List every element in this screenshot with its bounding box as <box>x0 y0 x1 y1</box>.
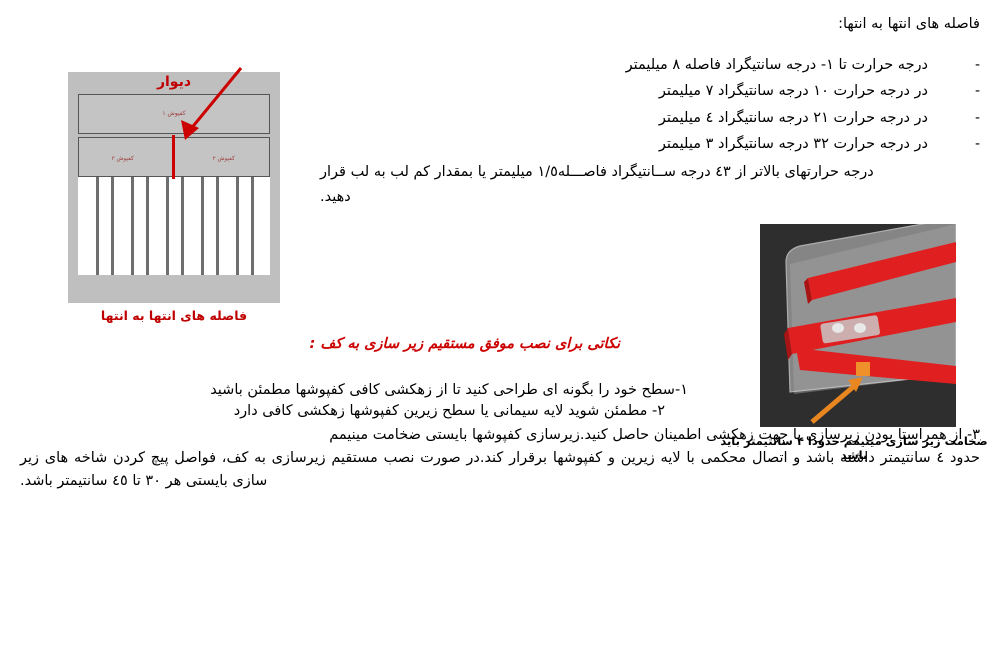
high-temperature-note: درجه حرارتهای بالاتر از ٤۳ درجه ســانتیگ… <box>320 160 980 211</box>
list-item: - در درجه حرارت ۳۲ درجه سانتیگراد ۳ میلی… <box>320 133 980 155</box>
plank-divider <box>236 177 239 275</box>
subfloor-thickness-photo <box>760 224 956 427</box>
list-item-label: در درجه حرارت ۲۱ درجه سانتیگراد ٤ میلیمت… <box>659 107 928 129</box>
plank-divider <box>251 177 254 275</box>
subfloor-tips-heading: نکاتی برای نصب موفق مستقیم زیر سازی به ک… <box>310 336 620 352</box>
diagram-caption: فاصله های انتها به انتها <box>68 308 280 323</box>
plank-divider <box>181 177 184 275</box>
temperature-gap-list: - درجه حرارت تا ۱- درجه سانتیگراد فاصله … <box>320 54 980 156</box>
bullet-marker-icon: - <box>928 110 980 126</box>
end-to-end-gaps-section: فاصله های انتها به انتها: - درجه حرارت ت… <box>320 14 980 210</box>
list-item-label: درجه حرارت تا ۱- درجه سانتیگراد فاصله ۸ … <box>626 54 928 76</box>
panel-label-left: کفپوش ۳ <box>112 155 134 162</box>
floor-layout-diagram: دیوار کفپوش ۱ کفپوش ۳ کفپوش ۲ <box>68 72 280 303</box>
plank-field <box>78 177 270 275</box>
high-temperature-note-text: درجه حرارتهای بالاتر از ٤۳ درجه ســانتیگ… <box>320 164 874 180</box>
page-title: فاصله های انتها به انتها: <box>320 14 980 36</box>
document-page: فاصله های انتها به انتها: - درجه حرارت ت… <box>0 0 1000 666</box>
bracket-hole <box>854 323 866 333</box>
subfloor-3d-illustration <box>760 224 956 427</box>
bracket-hole <box>832 323 844 333</box>
plank-divider <box>201 177 204 275</box>
high-temperature-note-tail: دهید. <box>320 185 980 210</box>
list-item: - در درجه حرارت ۲۱ درجه سانتیگراد ٤ میلی… <box>320 107 980 129</box>
list-item-label: در درجه حرارت ۳۲ درجه سانتیگراد ۳ میلیمت… <box>659 133 928 155</box>
red-pointer-arrow-icon <box>163 64 253 164</box>
plank-divider <box>111 177 114 275</box>
bullet-marker-icon: - <box>928 136 980 152</box>
plank-divider <box>216 177 219 275</box>
plank-divider <box>131 177 134 275</box>
list-item-label: در درجه حرارت ۱۰ درجه سانتیگراد ۷ میلیمت… <box>659 80 928 102</box>
plank-divider <box>146 177 149 275</box>
list-item: - درجه حرارت تا ۱- درجه سانتیگراد فاصله … <box>320 54 980 76</box>
bullet-marker-icon: - <box>928 57 980 73</box>
orange-marker <box>856 362 870 376</box>
plank-divider <box>96 177 99 275</box>
photo-caption: ضخامت زیر سازی مینیمم حدودا ۴ سانتیمتر ب… <box>718 434 990 462</box>
list-item: - در درجه حرارت ۱۰ درجه سانتیگراد ۷ میلی… <box>320 80 980 102</box>
plank-divider <box>166 177 169 275</box>
bullet-marker-icon: - <box>928 83 980 99</box>
